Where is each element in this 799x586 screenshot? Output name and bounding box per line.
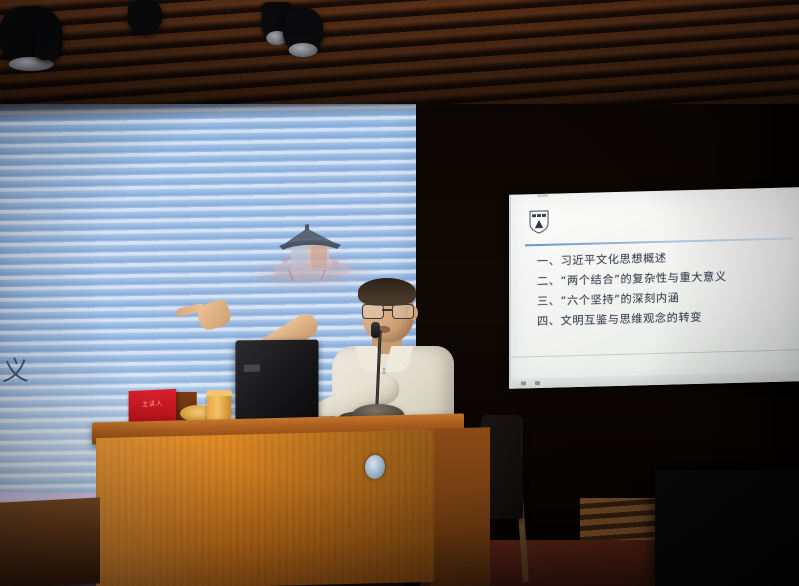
screen-bracket-dot — [521, 381, 526, 385]
podium-shading — [96, 430, 434, 586]
projection-screen: 一、习近平文化思想概述 二、“两个结合”的复杂性与重大意义 三、“六个坚持”的深… — [509, 187, 799, 389]
slide-outline-list: 一、习近平文化思想概述 二、“两个结合”的复杂性与重大意义 三、“六个坚持”的深… — [537, 246, 789, 333]
stage-platform-edge — [0, 497, 100, 586]
monitor — [655, 470, 799, 586]
screen-bracket-dot — [535, 381, 540, 385]
spotlight-lens — [289, 43, 318, 57]
wooden-ceiling — [0, 0, 799, 104]
glasses-bridge — [382, 309, 392, 311]
stage-spotlight-icon — [128, 0, 162, 34]
paper-cup — [207, 393, 231, 422]
stage-spotlight-icon — [283, 8, 323, 50]
university-shield-emblem-icon — [528, 209, 550, 236]
cup-lid — [206, 390, 232, 396]
stage-spotlight-icon — [34, 24, 60, 60]
lecture-hall-photo: 义 一、习近平文化思想概述 二、“两个结合”的复杂性与重大意义 三、“六个坚持”… — [0, 0, 799, 586]
name-placard-text: 主讲人 — [134, 398, 171, 408]
podium-side-panel — [430, 427, 490, 586]
microphone-head — [371, 322, 380, 338]
glasses-lens-left — [362, 304, 384, 319]
laptop-logo — [244, 364, 260, 372]
glasses-icon — [362, 304, 412, 317]
name-placard: 主讲人 — [129, 389, 177, 423]
led-wall-partial-character: 义 — [2, 349, 30, 388]
podium-front-panel — [96, 430, 434, 586]
presenter-hair — [358, 278, 416, 306]
glasses-lens-right — [392, 304, 414, 319]
